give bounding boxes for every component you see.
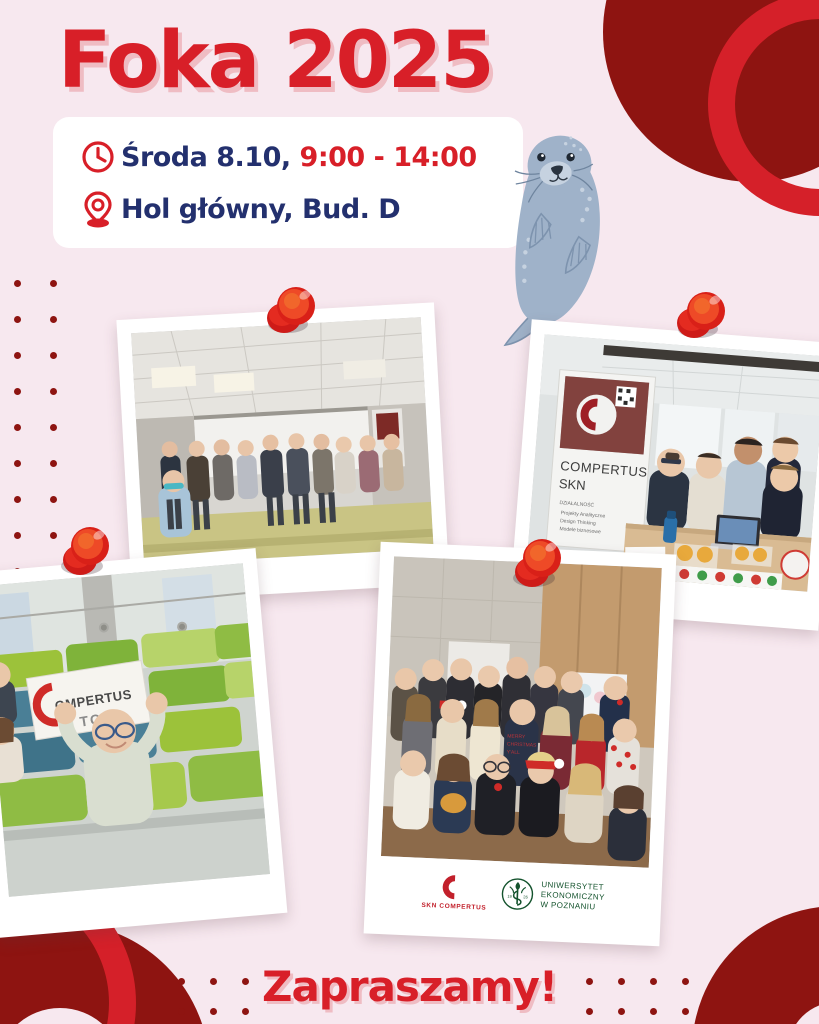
info-row-location: Hol główny, Bud. D bbox=[75, 183, 523, 235]
photo-image-lecture-hall: OMPERTUS TOP! bbox=[0, 563, 270, 897]
event-info-card: Środa 8.10, 9:00 - 14:00 Hol główny, Bud… bbox=[53, 117, 523, 248]
pushpin-3-icon bbox=[52, 516, 122, 586]
skn-compertus-logo-icon: SKN COMPERTUS bbox=[421, 871, 487, 911]
info-date-label: Środa 8.10, bbox=[121, 142, 300, 173]
footer-cta-text: Zapraszamy! bbox=[0, 962, 819, 1011]
info-time-label: 9:00 - 14:00 bbox=[300, 142, 477, 173]
university-line-3: W POZNANIU bbox=[540, 900, 604, 913]
svg-text:19: 19 bbox=[508, 894, 513, 899]
photo-card-lecture-hall[interactable]: OMPERTUS TOP! bbox=[0, 548, 287, 938]
photo-image-christmas-group: MERRYCHRISTMAS Y'ALL bbox=[381, 556, 662, 867]
svg-text:MERRY: MERRY bbox=[507, 733, 526, 740]
photo-card-christmas-group[interactable]: MERRYCHRISTMAS Y'ALL bbox=[364, 542, 677, 947]
pushpin-4-icon bbox=[504, 528, 574, 598]
skn-compertus-label: SKN COMPERTUS bbox=[421, 901, 486, 911]
seal-mascot-icon bbox=[466, 118, 616, 350]
svg-text:SKN: SKN bbox=[558, 476, 586, 493]
poster-canvas: Foka 2025 Środa 8.10, 9:00 - 14:00 bbox=[0, 0, 819, 1024]
clock-icon bbox=[75, 140, 121, 174]
university-name-text: UNIWERSYTET EKONOMICZNY W POZNANIU bbox=[540, 880, 605, 913]
photo-caption-logos: SKN COMPERTUS 19 26 UNIWERSYTET EKONOMIC… bbox=[378, 856, 648, 926]
svg-text:CHRISTMAS: CHRISTMAS bbox=[507, 741, 537, 748]
location-pin-icon bbox=[75, 190, 121, 228]
page-title: Foka 2025 bbox=[58, 16, 492, 106]
info-row-datetime: Środa 8.10, 9:00 - 14:00 bbox=[75, 131, 523, 183]
university-logo-group: 19 26 UNIWERSYTET EKONOMICZNY W POZNANIU bbox=[500, 876, 605, 915]
info-location-text: Hol główny, Bud. D bbox=[121, 194, 400, 225]
pushpin-1-icon bbox=[258, 276, 328, 346]
university-emblem-icon: 19 26 bbox=[500, 876, 535, 911]
svg-text:26: 26 bbox=[524, 894, 529, 899]
pushpin-2-icon bbox=[668, 281, 738, 351]
info-datetime-text: Środa 8.10, 9:00 - 14:00 bbox=[121, 142, 477, 173]
photo-image-group-conference-room bbox=[131, 317, 433, 565]
svg-text:Y'ALL: Y'ALL bbox=[506, 749, 520, 756]
